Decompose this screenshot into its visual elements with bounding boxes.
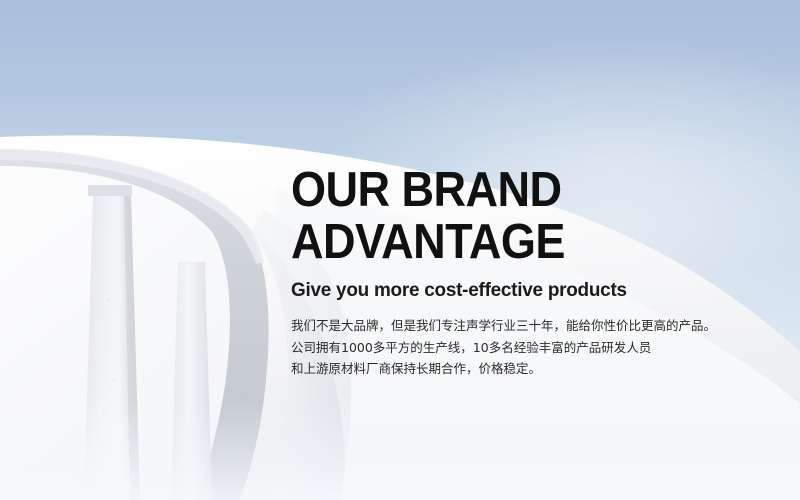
body-copy-line: 和上游原材料厂商保持长期合作，价格稳定。: [291, 358, 761, 380]
subheadline: Give you more cost-effective products: [291, 278, 747, 302]
body-copy-line: 我们不是大品牌，但是我们专注声学行业三十年，能给你性价比更高的产品。: [291, 315, 761, 337]
banner-content: OUR BRAND ADVANTAGE Give you more cost-e…: [291, 164, 761, 380]
brand-advantage-banner: OUR BRAND ADVANTAGE Give you more cost-e…: [0, 0, 800, 500]
headline-line-1: OUR BRAND: [291, 164, 723, 216]
body-copy: 我们不是大品牌，但是我们专注声学行业三十年，能给你性价比更高的产品。 公司拥有1…: [291, 315, 761, 380]
body-copy-line: 公司拥有1000多平方的生产线，10多名经验丰富的产品研发人员: [291, 337, 761, 359]
headline-line-2: ADVANTAGE: [291, 216, 723, 268]
